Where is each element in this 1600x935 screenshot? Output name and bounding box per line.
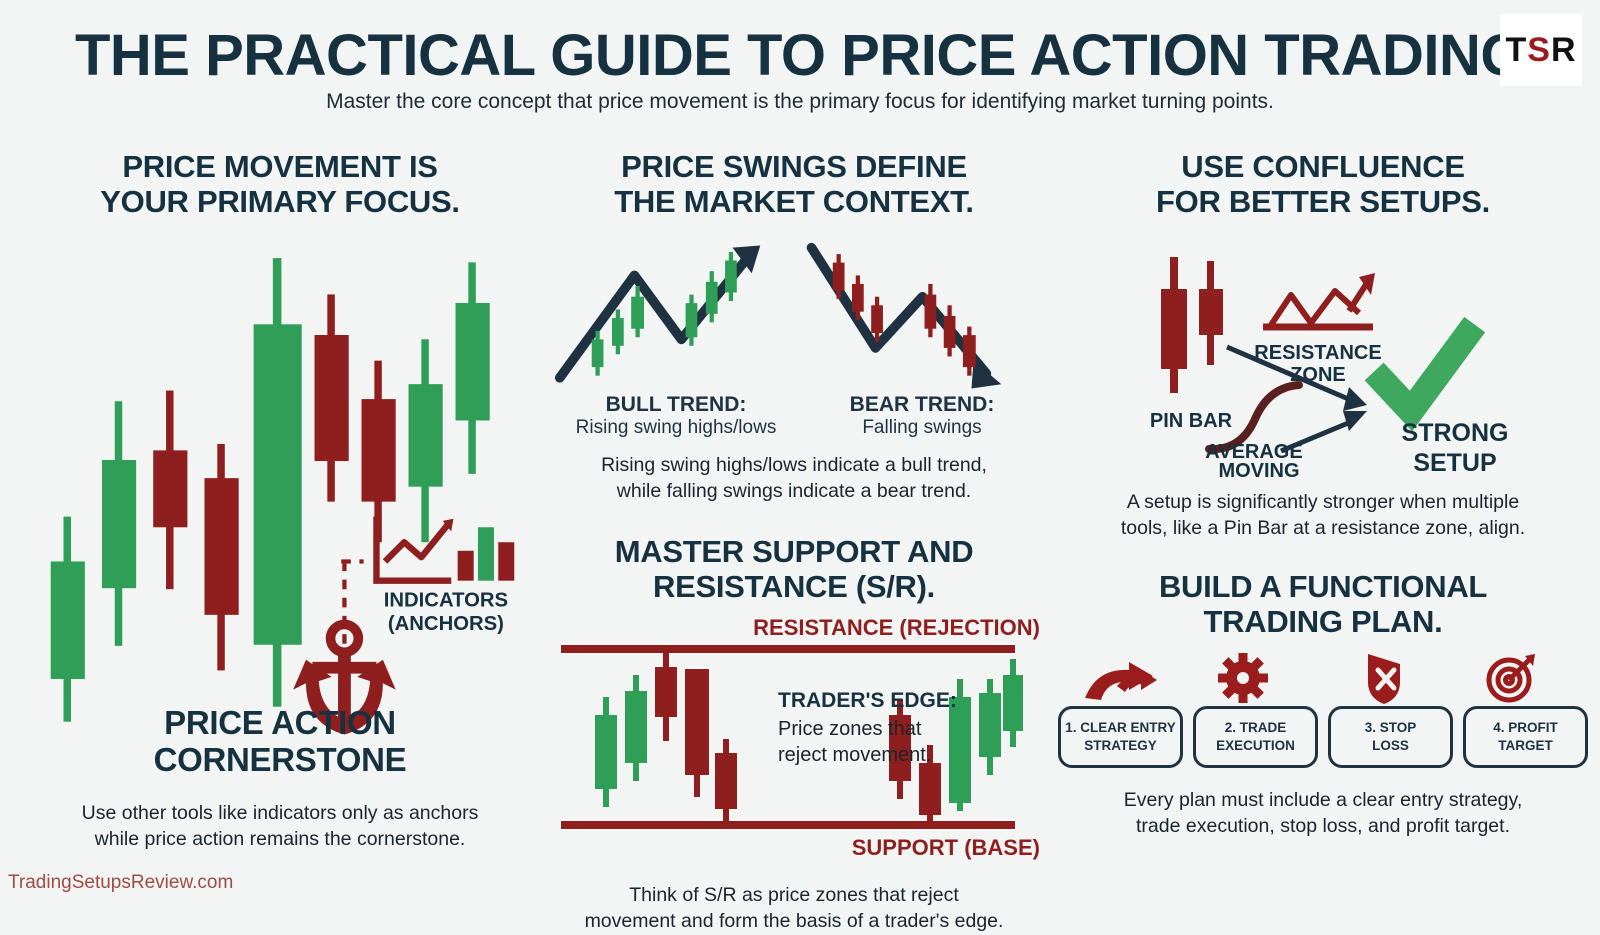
bull-trend-sub: Rising swing highs/lows (571, 417, 781, 439)
indicator-bar-green (478, 528, 494, 581)
sr-heading-line1: MASTER SUPPORT AND (615, 534, 974, 569)
plan-heading-line1: BUILD A FUNCTIONAL (1159, 569, 1487, 604)
candle-body (205, 479, 239, 616)
plan-step-1-line1: 1. CLEAR ENTRY (1065, 719, 1176, 737)
pin-bar-candles (1161, 257, 1223, 393)
bear-trend-label-block: BEAR TREND: Falling swings (827, 393, 1017, 439)
moving-average-line2: AVERAGE (1205, 441, 1302, 463)
candle-body-large (254, 325, 302, 645)
sr-heading-line2: RESISTANCE (S/R). (653, 569, 935, 604)
plan-step-1-line2: STRATEGY (1084, 737, 1157, 755)
page-subtitle: Master the core concept that price movem… (0, 90, 1600, 114)
logo-letter-s: S (1527, 31, 1551, 70)
sr-heading: MASTER SUPPORT AND RESISTANCE (S/R). (548, 535, 1040, 604)
target-icon (1489, 654, 1535, 700)
plan-step-4-line2: TARGET (1498, 737, 1553, 755)
candle-wick-lower (421, 483, 428, 543)
plan-step-3-line1: 3. STOP (1365, 719, 1417, 737)
candle-wick-upper (374, 361, 381, 404)
checkmark-icon (1383, 335, 1467, 411)
right-heading-line2: FOR BETTER SETUPS. (1156, 184, 1490, 219)
candle-body (102, 460, 136, 588)
middle-heading-line2: THE MARKET CONTEXT. (614, 184, 973, 219)
plan-caption-line2: trade execution, stop loss, and profit t… (1136, 815, 1510, 837)
plan-step-icons (1058, 654, 1588, 704)
indicators-label-line2: (ANCHORS) (388, 613, 504, 635)
left-caption-line2: while price action remains the cornersto… (95, 828, 466, 850)
sr-caption-line1: Think of S/R as price zones that reject (629, 884, 958, 906)
confluence-caption-line2: tools, like a Pin Bar at a resistance zo… (1121, 517, 1525, 539)
right-heading-line1: USE CONFLUENCE (1181, 149, 1464, 184)
support-resistance-chart: TRADER'S EDGE: Price zones that reject m… (548, 641, 1028, 841)
candle-wick-lower (166, 523, 173, 589)
candle-wick-lower (115, 584, 122, 646)
candle-body (409, 385, 443, 488)
gear-icon (1218, 653, 1268, 703)
plan-caption: Every plan must include a clear entry st… (1058, 788, 1588, 840)
logo-letter-t: T (1505, 31, 1527, 70)
plan-step-3-line2: LOSS (1372, 737, 1409, 755)
candle-wick-lower (217, 611, 224, 671)
tsr-logo: TSR (1500, 14, 1582, 86)
cornerstone-line1: PRICE ACTION (164, 704, 396, 741)
logo-letter-r: R (1551, 31, 1577, 70)
candle-wick-upper (468, 263, 475, 308)
page-title: THE PRACTICAL GUIDE TO PRICE ACTION TRAD… (0, 22, 1600, 89)
sr-caption: Think of S/R as price zones that reject … (548, 883, 1040, 935)
confluence-caption: A setup is significantly stronger when m… (1058, 490, 1588, 542)
right-heading: USE CONFLUENCE FOR BETTER SETUPS. (1058, 150, 1588, 219)
middle-heading-line1: PRICE SWINGS DEFINE (621, 149, 967, 184)
candle-group (51, 259, 490, 723)
column-price-movement: PRICE MOVEMENT IS YOUR PRIMARY FOCUS. (20, 150, 540, 853)
candle-wick-upper (421, 340, 428, 389)
candle-wick-upper (115, 402, 122, 464)
plan-step-1[interactable]: 1. CLEAR ENTRY STRATEGY (1058, 706, 1183, 768)
left-heading-line2: YOUR PRIMARY FOCUS. (100, 184, 459, 219)
plan-step-4-line1: 4. PROFIT (1493, 719, 1558, 737)
arrow-curve-icon (1085, 662, 1157, 700)
price-action-candlestick-chart: INDICATORS (ANCHORS) (20, 241, 530, 711)
bull-trend-label-block: BULL TREND: Rising swing highs/lows (571, 393, 781, 439)
support-label: SUPPORT (BASE) (548, 835, 1040, 861)
trend-labels: BULL TREND: Rising swing highs/lows BEAR… (548, 393, 1040, 439)
indicators-chart-icon (376, 517, 514, 581)
plan-heading: BUILD A FUNCTIONAL TRADING PLAN. (1058, 570, 1588, 639)
traders-edge-line2: reject movement. (778, 744, 931, 766)
candle-wick-upper (166, 391, 173, 455)
candle-wick-upper (273, 259, 282, 330)
plan-heading-line2: TRADING PLAN. (1204, 604, 1443, 639)
left-heading-line1: PRICE MOVEMENT IS (122, 149, 437, 184)
traders-edge-title: TRADER'S EDGE: (778, 689, 957, 712)
bull-trend-zigzag (560, 246, 761, 378)
candle-body (315, 335, 349, 461)
candle-wick-upper (217, 444, 224, 482)
candle-wick-lower (327, 457, 334, 502)
sr-caption-line2: movement and form the basis of a trader'… (585, 910, 1004, 932)
infographic-root: THE PRACTICAL GUIDE TO PRICE ACTION TRAD… (0, 0, 1600, 900)
bear-trend-zigzag (811, 248, 1001, 389)
plan-steps-row: 1. CLEAR ENTRY STRATEGY 2. TRADE EXECUTI… (1058, 706, 1588, 768)
column-price-swings: PRICE SWINGS DEFINE THE MARKET CONTEXT. (548, 150, 1040, 935)
resistance-zone-line1: RESISTANCE (1254, 342, 1381, 364)
swing-caption-line2: while falling swings indicate a bear tre… (617, 480, 971, 502)
candle-body (51, 562, 85, 680)
confluence-caption-line1: A setup is significantly stronger when m… (1127, 491, 1519, 513)
bear-trend-label: BEAR TREND: (827, 393, 1017, 417)
cornerstone-line2: CORNERSTONE (154, 741, 407, 778)
strong-setup-line2: SETUP (1413, 449, 1496, 477)
candle-body (456, 303, 490, 421)
plan-step-2[interactable]: 2. TRADE EXECUTION (1193, 706, 1318, 768)
plan-step-2-line2: EXECUTION (1216, 737, 1295, 755)
plan-step-2-line1: 2. TRADE (1225, 719, 1287, 737)
cornerstone-label: PRICE ACTION CORNERSTONE (20, 705, 540, 779)
bear-trend-sub: Falling swings (827, 417, 1017, 439)
candle-wick-upper (64, 517, 71, 568)
left-caption-line1: Use other tools like indicators only as … (82, 802, 479, 824)
resistance-label: RESISTANCE (REJECTION) (548, 615, 1040, 641)
left-heading: PRICE MOVEMENT IS YOUR PRIMARY FOCUS. (20, 150, 540, 219)
candle-wick-lower (64, 673, 71, 722)
pin-bar-label: PIN BAR (1150, 410, 1233, 432)
shield-x-icon (1368, 654, 1400, 704)
candle-wick-upper (327, 295, 334, 340)
indicators-label-line1: INDICATORS (384, 590, 508, 612)
left-caption: Use other tools like indicators only as … (20, 801, 540, 853)
candle-wick-lower (273, 641, 282, 707)
plan-step-4[interactable]: 4. PROFIT TARGET (1463, 706, 1588, 768)
bull-trend-label: BULL TREND: (571, 393, 781, 417)
indicator-bar-red (498, 543, 514, 581)
middle-heading: PRICE SWINGS DEFINE THE MARKET CONTEXT. (548, 150, 1040, 219)
candle-body (362, 400, 396, 503)
candle-body (153, 451, 187, 528)
plan-caption-line1: Every plan must include a clear entry st… (1124, 789, 1522, 811)
traders-edge-line1: Price zones that (778, 718, 922, 740)
plan-step-3[interactable]: 3. STOP LOSS (1328, 706, 1453, 768)
candle-wick-lower (468, 417, 475, 475)
resistance-zone-icon (1263, 273, 1375, 327)
watermark: TradingSetupsReview.com (8, 872, 233, 894)
column-confluence: USE CONFLUENCE FOR BETTER SETUPS. PIN BA… (1058, 150, 1588, 840)
strong-setup-line1: STRONG (1402, 419, 1509, 447)
trend-diagrams (548, 237, 1028, 397)
indicator-bar-red (458, 551, 474, 581)
